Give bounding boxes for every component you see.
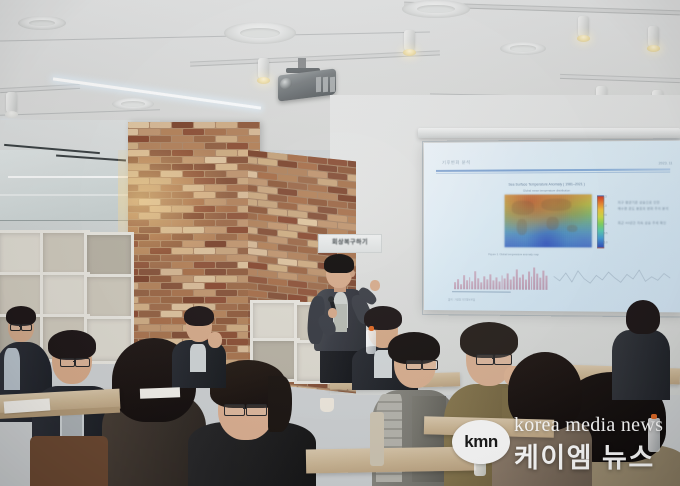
coffee-cup — [320, 398, 334, 412]
slide-divider-thin — [436, 172, 670, 174]
gesturing-hand — [370, 280, 380, 291]
watermark: kmn korea media news 케이엠 뉴스 — [452, 406, 676, 476]
slide-bullet: 최근 40년간 지속 상승 추세 확인 — [618, 221, 667, 225]
recessed-speaker-icon — [112, 98, 154, 110]
track-spotlight — [258, 58, 269, 80]
watermark-korean: 케이엠 뉴스 — [514, 436, 655, 475]
projection-screen[interactable]: 기후변화 분석 2023. 11 Sea Surface Temperature… — [424, 141, 680, 313]
photo-scene: 기후변화 분석 2023. 11 Sea Surface Temperature… — [0, 0, 680, 486]
map-title: Sea Surface Temperature Anomaly ( 1981–2… — [490, 182, 603, 187]
led-strip — [53, 77, 261, 109]
slide-footer: 출처 : 기상청 기후정보포털 — [448, 297, 475, 301]
track-spotlight — [648, 26, 659, 48]
chair — [30, 436, 108, 486]
audience-member — [172, 306, 226, 386]
slide-bullet: 해수면 온도 분포의 변화 추이 분석 — [618, 206, 669, 210]
light-track — [560, 74, 680, 83]
slide-bullet: 지구 평균기온 상승으로 인한 — [618, 200, 660, 204]
wall-sign: 회상복구하기 — [318, 234, 382, 253]
recessed-speaker-icon — [224, 22, 296, 44]
handout-paper — [140, 387, 180, 398]
colorbar-tick: 1.5 — [603, 195, 606, 198]
screen-roller-housing — [418, 128, 680, 138]
slide-title: 기후변화 분석 — [442, 160, 471, 166]
ceiling-projector — [276, 58, 338, 102]
colorbar-tick: -0.5 — [603, 232, 607, 235]
colorbar-tick: 0.0 — [603, 223, 606, 226]
track-spotlight — [6, 92, 17, 114]
watermark-english: korea media news — [514, 414, 663, 437]
slide-page-number: 2023. 11 — [659, 161, 673, 165]
recessed-speaker-icon — [18, 16, 66, 30]
audience-member — [612, 300, 670, 396]
table — [306, 447, 476, 474]
world-temperature-heatmap — [505, 194, 592, 247]
map-subtitle: Global mean temperature distribution — [490, 188, 603, 193]
kmn-logo: kmn — [452, 420, 510, 464]
bar-chart-baseline — [452, 291, 511, 293]
colorbar-tick: 1.0 — [603, 205, 606, 208]
water-bottle — [366, 330, 376, 354]
recessed-speaker-icon — [500, 42, 546, 55]
chair — [370, 412, 384, 466]
figure-caption: Figure 1. Global temperature anomaly map — [488, 253, 538, 256]
wall-sign-label: 회상복구하기 — [319, 235, 381, 252]
recessed-speaker-icon — [402, 0, 470, 18]
slide-bar-chart — [454, 267, 547, 290]
track-spotlight — [578, 16, 589, 38]
kmn-logo-text: kmn — [452, 420, 510, 464]
slide-line-chart — [554, 264, 671, 293]
colorbar-tick: -1.0 — [603, 241, 607, 244]
track-spotlight — [404, 30, 415, 52]
colorbar-tick: 0.5 — [603, 214, 606, 217]
